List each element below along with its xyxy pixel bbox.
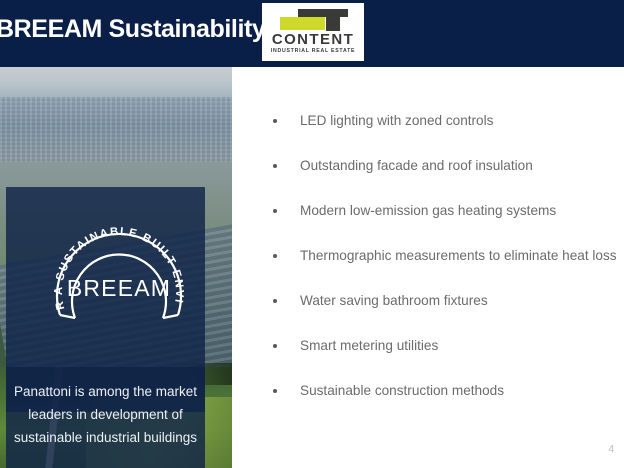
logo-rect-dark-right bbox=[326, 14, 340, 31]
breeam-wordmark: BREEAM bbox=[44, 275, 194, 301]
content-brand-logo: CONTENT INDUSTRIAL REAL ESTATE bbox=[262, 3, 364, 61]
bullet-dot-icon bbox=[273, 389, 277, 393]
bullet-dot-icon bbox=[273, 209, 277, 213]
logo-tagline: INDUSTRIAL REAL ESTATE bbox=[262, 48, 364, 55]
list-item: Water saving bathroom fixtures bbox=[268, 292, 624, 322]
list-item: LED lighting with zoned controls bbox=[268, 112, 624, 142]
bullet-dot-icon bbox=[273, 344, 277, 348]
slide-canvas: BREEAM Sustainability CONTENT INDUSTRIAL… bbox=[0, 0, 624, 468]
list-item-label: Smart metering utilities bbox=[300, 337, 624, 355]
list-item-label: Sustainable construction methods bbox=[300, 382, 624, 400]
list-item: Modern low-emission gas heating systems bbox=[268, 202, 624, 232]
list-item-label: Water saving bathroom fixtures bbox=[300, 292, 624, 310]
list-item-label: Modern low-emission gas heating systems bbox=[300, 202, 624, 220]
list-item: Smart metering utilities bbox=[268, 337, 624, 367]
page-number: 4 bbox=[608, 444, 614, 456]
list-item-label: Outstanding facade and roof insulation bbox=[300, 157, 624, 175]
bullet-dot-icon bbox=[273, 119, 277, 123]
list-item: Outstanding facade and roof insulation bbox=[268, 157, 624, 187]
list-item-label: Thermographic measurements to eliminate … bbox=[300, 247, 624, 265]
breeam-badge-icon: CODE FOR A SUSTAINABLE BUILT ENVIRONMENT… bbox=[44, 215, 194, 365]
logo-rect-dark-top bbox=[298, 9, 348, 17]
page-title: BREEAM Sustainability bbox=[0, 14, 264, 44]
list-item: Sustainable construction methods bbox=[268, 382, 624, 412]
logo-rect-accent bbox=[280, 17, 325, 30]
list-item: Thermographic measurements to eliminate … bbox=[268, 247, 624, 277]
bullet-dot-icon bbox=[273, 299, 277, 303]
bullet-dot-icon bbox=[273, 164, 277, 168]
slide-header-bar: BREEAM Sustainability CONTENT INDUSTRIAL… bbox=[0, 0, 624, 67]
photo-sky-layer bbox=[0, 67, 232, 101]
bullet-dot-icon bbox=[273, 254, 277, 258]
feature-bullet-list: LED lighting with zoned controls Outstan… bbox=[268, 112, 624, 427]
logo-mark-icon bbox=[276, 9, 350, 31]
logo-wordmark: CONTENT bbox=[262, 32, 364, 48]
aerial-photo-panel: CODE FOR A SUSTAINABLE BUILT ENVIRONMENT… bbox=[0, 67, 232, 468]
list-item-label: LED lighting with zoned controls bbox=[300, 112, 624, 130]
photo-caption: Panattoni is among the market leaders in… bbox=[8, 380, 203, 449]
photo-cityscape-layer bbox=[0, 97, 232, 167]
